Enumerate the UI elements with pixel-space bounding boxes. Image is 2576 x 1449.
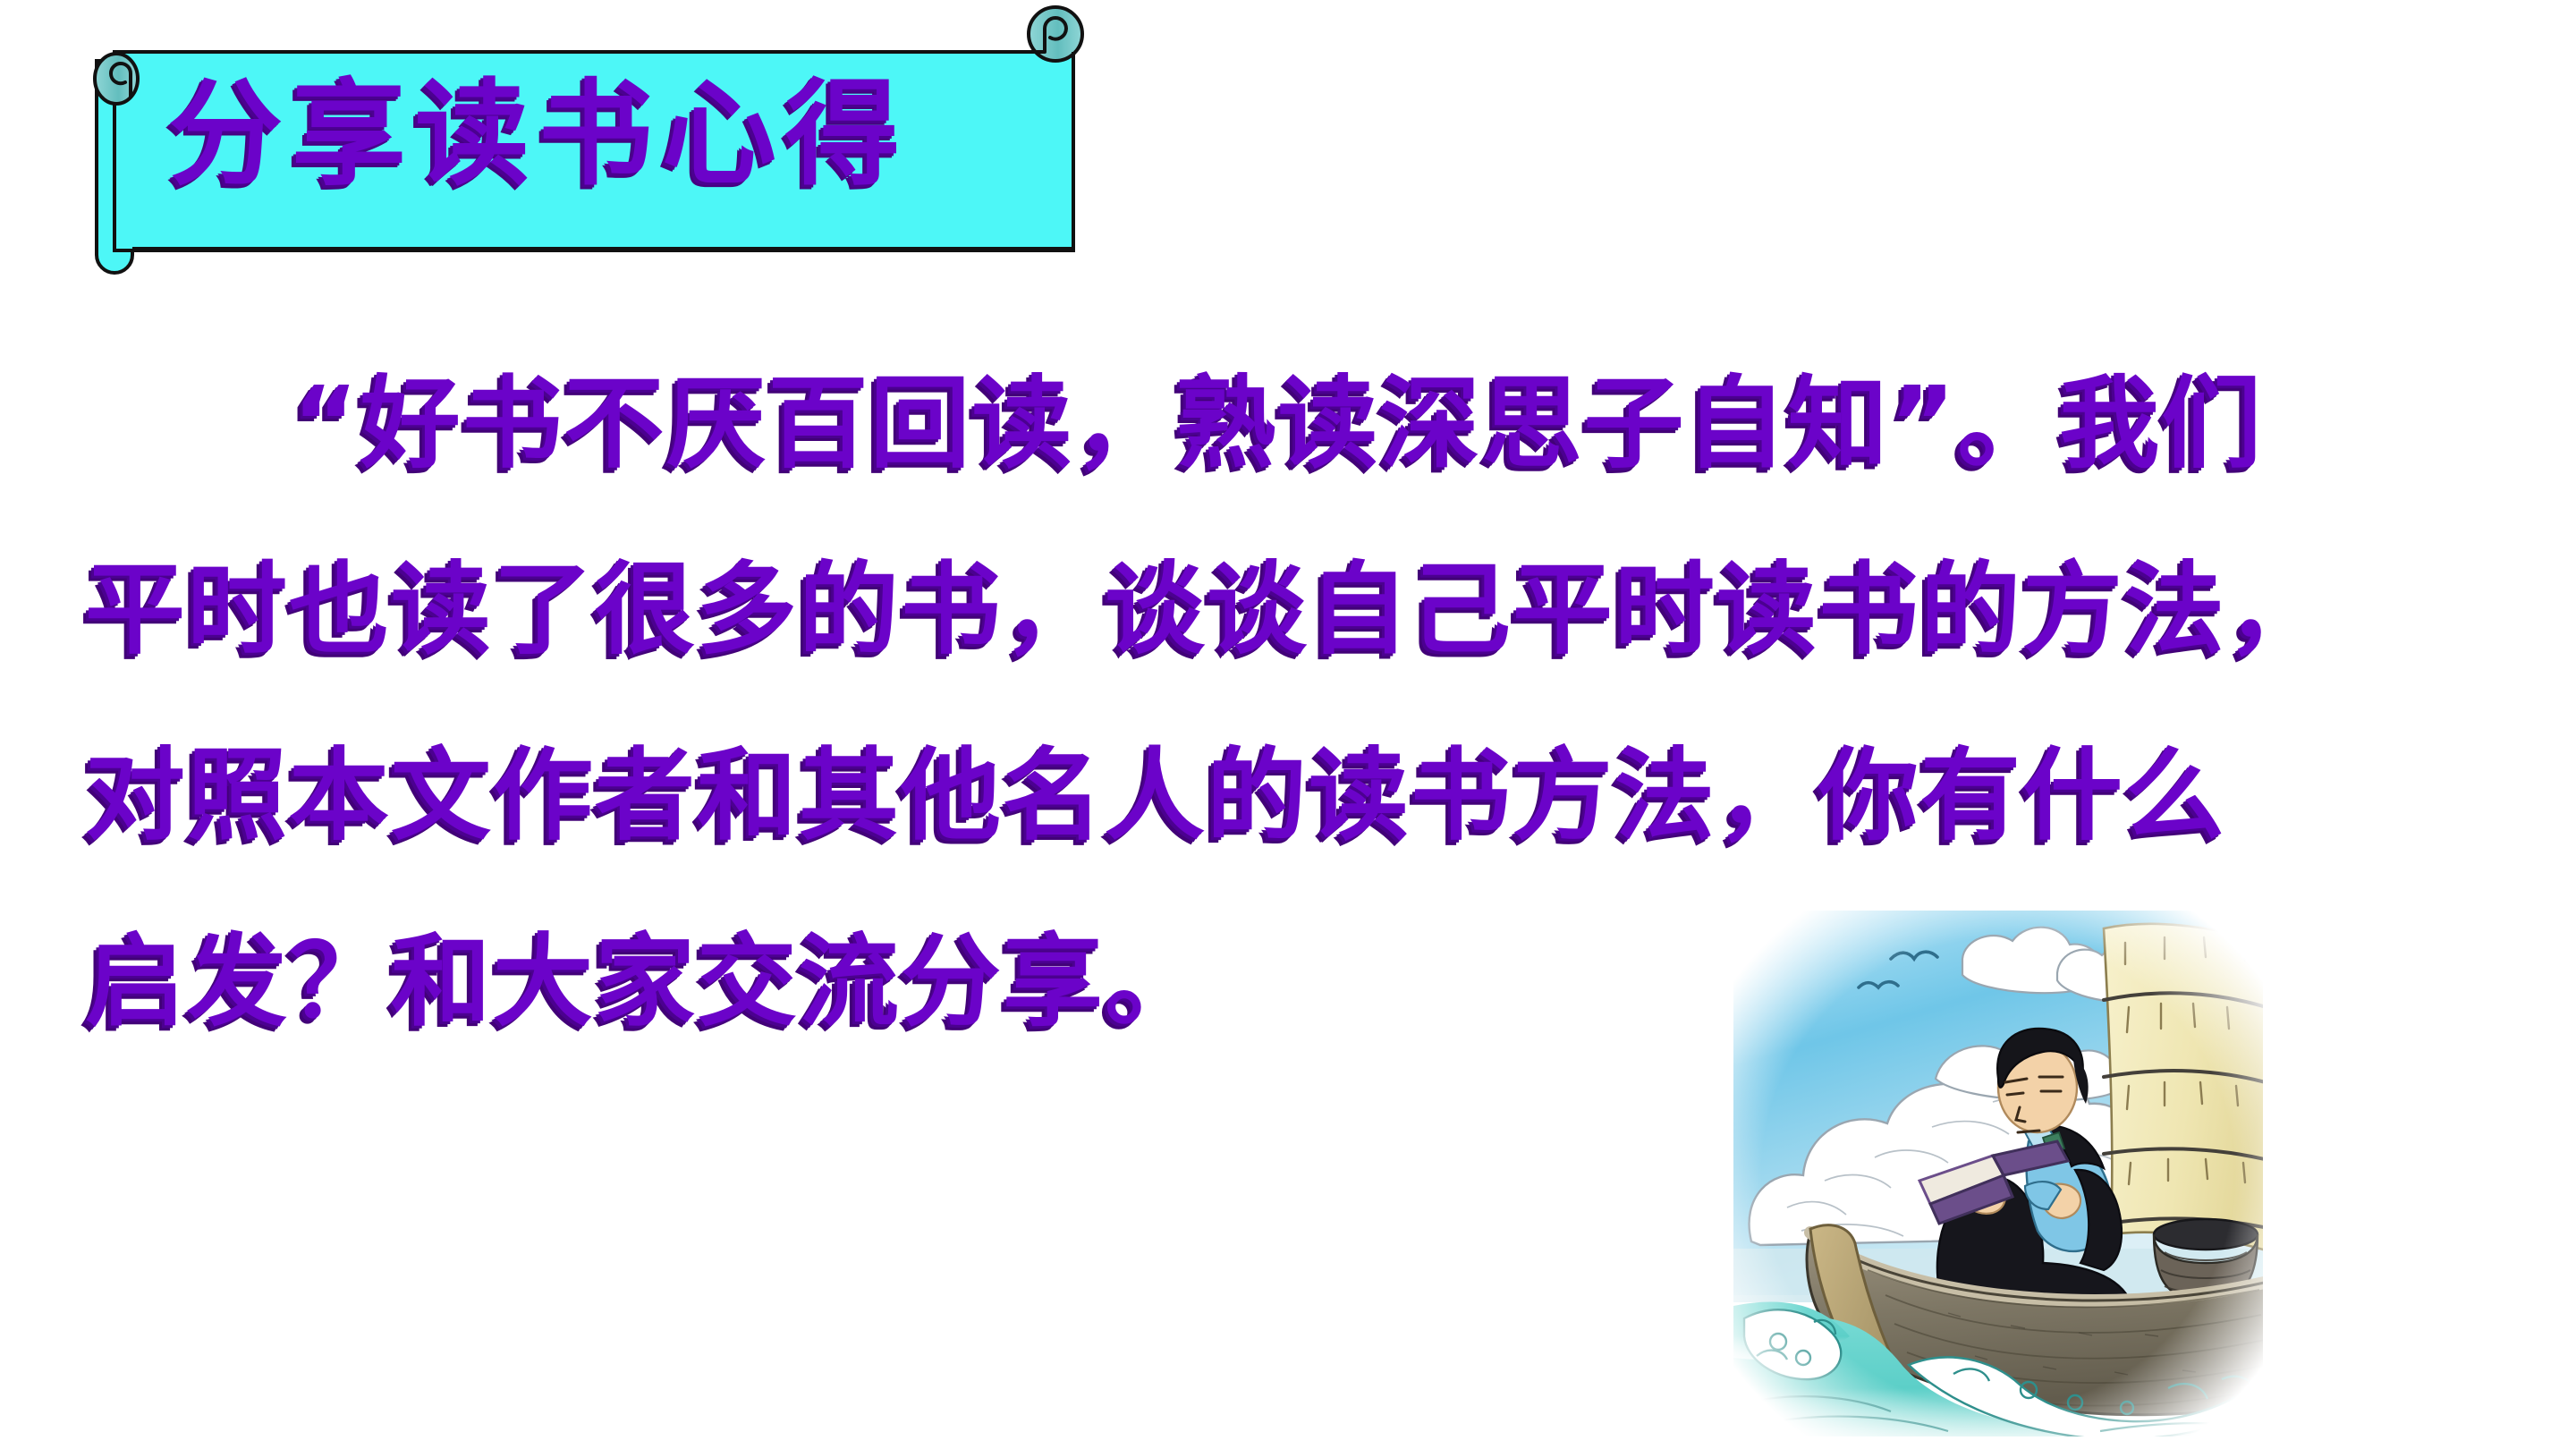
body-line-2: 平时也读了很多的书，谈谈自己平时读书的方法， [85,517,2491,703]
title-scroll-banner: 分享读书心得 [79,9,1098,277]
slide-canvas: 分享读书心得 “好书不厌百回读，熟读深思子自知”。我们 平时也读了很多的书，谈谈… [0,0,2576,1449]
page-title: 分享读书心得 [168,50,1080,220]
illustration-vignette [1733,911,2263,1436]
reading-in-boat-illustration [1724,902,2272,1445]
body-line-1: “好书不厌百回读，熟读深思子自知”。我们 [85,331,2491,517]
body-line-3: 对照本文作者和其他名人的读书方法，你有什么 [85,703,2491,889]
illustration-svg [1724,902,2272,1445]
